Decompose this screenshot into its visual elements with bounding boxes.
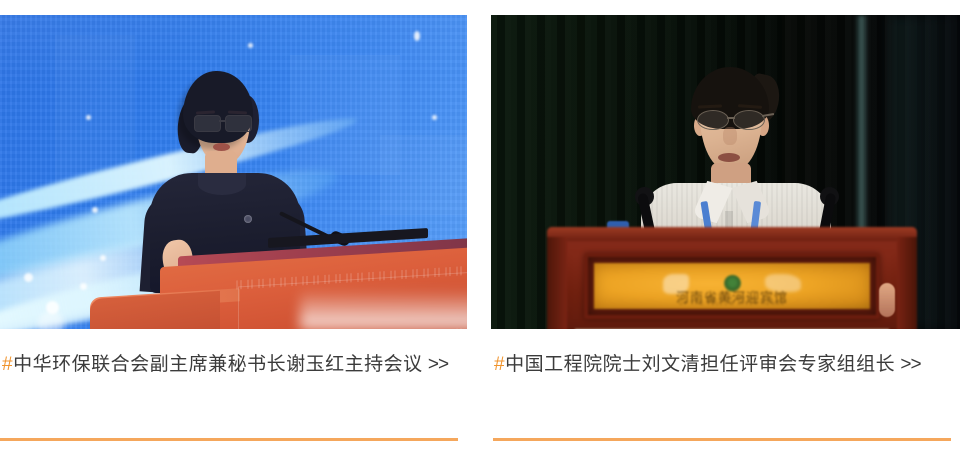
bokeh-dot [80, 283, 87, 290]
news-card-left[interactable]: #中华环保联合会副主席兼秘书长谢玉红主持会议 >> [0, 0, 467, 461]
speaker-collar [198, 173, 246, 195]
photo-left-speaker[interactable] [0, 15, 467, 329]
speaker-mouth [213, 143, 230, 151]
backdrop-panel-3 [380, 135, 467, 215]
plaque-english-line2: OF THE YELLOW RIVER HENAN [594, 301, 870, 307]
podium-side-knob [879, 283, 895, 317]
photo-right-speaker[interactable]: 河南省黄河迎宾馆 YELLOW HOTEL OF THE YELLOW RIVE… [491, 15, 960, 329]
bokeh-dot [432, 115, 437, 120]
caption-left-text: 中华环保联合会副主席兼秘书长谢玉红主持会议 [13, 354, 423, 375]
caption-left[interactable]: #中华环保联合会副主席兼秘书长谢玉红主持会议 >> [2, 348, 457, 381]
bokeh-dot [414, 31, 420, 41]
glasses-lens-right [733, 110, 765, 130]
podium-top-lip [547, 227, 917, 241]
speaker-lapel-pin [244, 215, 252, 223]
podium-right: 河南省黄河迎宾馆 YELLOW HOTEL OF THE YELLOW RIVE… [547, 227, 917, 329]
hashtag-icon: # [2, 354, 13, 375]
glasses-lens-left [194, 115, 221, 132]
page-root: #中华环保联合会副主席兼秘书长谢玉红主持会议 >> [0, 0, 960, 461]
podium-gold-plaque: 河南省黄河迎宾馆 YELLOW HOTEL OF THE YELLOW RIVE… [594, 263, 870, 309]
glasses-bridge [219, 120, 226, 122]
man-glasses [694, 110, 770, 128]
glasses-lens-left [697, 110, 729, 130]
news-card-right[interactable]: 河南省黄河迎宾馆 YELLOW HOTEL OF THE YELLOW RIVE… [491, 0, 960, 461]
glasses-lens-right [225, 115, 252, 132]
caption-right-chevron[interactable]: >> [900, 354, 920, 375]
bokeh-dot [92, 207, 98, 213]
divider-left [0, 438, 458, 441]
backdrop-panel-2 [55, 35, 135, 185]
man-nose [723, 127, 737, 145]
divider-right [493, 438, 951, 441]
man-mouth [718, 153, 740, 162]
bokeh-dot [86, 115, 91, 120]
stage-glow [300, 289, 467, 329]
speaker-glasses [192, 115, 254, 130]
podium-side-right [897, 237, 917, 329]
podium-side-left [547, 237, 567, 329]
hashtag-icon: # [494, 354, 505, 375]
caption-right-text: 中国工程院院士刘文清担任评审会专家组组长 [505, 354, 895, 375]
caption-left-chevron[interactable]: >> [428, 354, 448, 375]
glasses-bridge [727, 117, 735, 119]
caption-right[interactable]: #中国工程院院士刘文清担任评审会专家组组长 >> [494, 348, 950, 381]
bokeh-dot [24, 273, 33, 282]
bokeh-dot [248, 43, 253, 48]
